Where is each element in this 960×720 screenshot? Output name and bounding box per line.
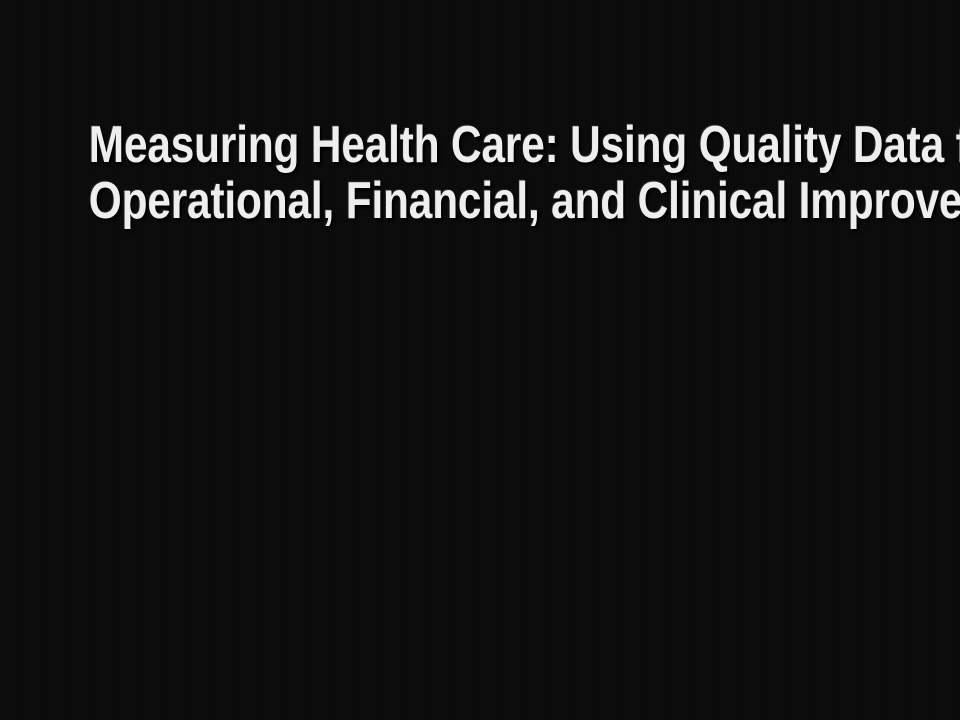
empty-background-area — [0, 240, 960, 720]
book-cover-screen: Measuring Health Care: Using Quality Dat… — [0, 0, 960, 720]
title-line-1: Measuring Health Care: Using Quality Dat… — [89, 118, 871, 172]
title-line-2: Operational, Financial, and Clinical Imp… — [89, 174, 871, 228]
title-block: Measuring Health Care: Using Quality Dat… — [0, 118, 960, 228]
